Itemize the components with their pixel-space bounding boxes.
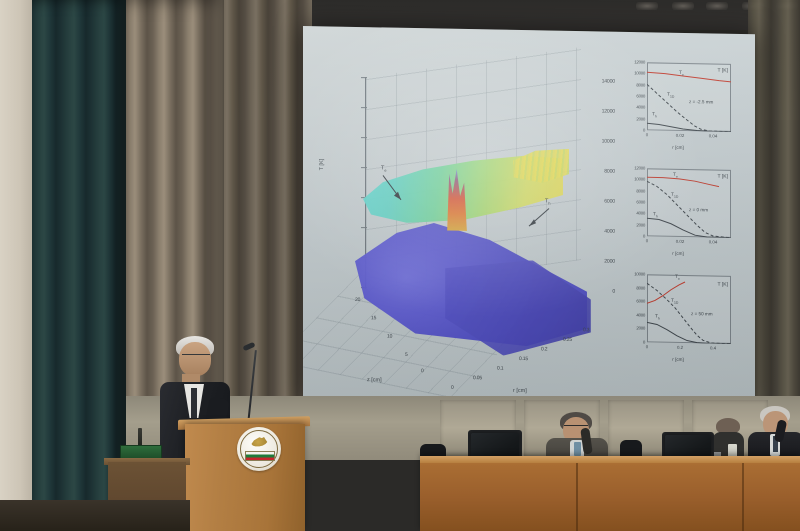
subplot-y-tick: 2000 [636,116,645,121]
z-tick-label: 8000 [573,168,615,175]
y-tick-label: 15 [371,315,376,321]
projection-screen: T [K] 14000 12000 10000 8000 6000 4000 2… [303,26,755,409]
subplot-curve-label-te: Te [679,71,684,77]
subplot-y-tick: 0 [643,340,645,345]
subplot-curve-label-th: Th [655,314,660,320]
annotation-th-sub: h [548,202,550,206]
subplot-curve-label-te: Te [675,275,680,281]
subplot-condition-label: z = -2.5 mm [689,99,713,104]
panel-table-seam [742,463,744,531]
subplot-x-tick: 0.02 [676,239,685,244]
podium-emblem [237,427,281,471]
z-tick-label: 12000 [573,108,615,115]
subplot-curve-label-th: Th [653,212,658,218]
subplot-y-tick: 0 [643,234,645,239]
subplot-x-tick: 0.4 [710,345,716,350]
x-tick-label: 0.25 [563,337,572,343]
subplot-x-tick: 0 [646,238,648,243]
annotation-te-sub: e [384,169,386,173]
subplot-y-tick: 10000 [634,71,645,76]
main-plot-yaxis-title: z [cm] [367,377,382,383]
z-tick-label: 2000 [573,258,615,265]
subplot-y-tick: 12000 [634,59,645,64]
subplot-y-tick: 6000 [636,94,645,99]
subplot-y-tick: 10000 [634,177,645,182]
main-plot-xaxis-title: r [cm] [513,388,527,394]
subplot-y-tick: 2000 [636,222,645,227]
subplot-y-tick: 0 [643,128,645,133]
x-tick-label: 0 [451,385,454,391]
nameplate [120,445,162,459]
z-tick-label: 10000 [573,138,615,145]
subplot-y-tick: 8000 [636,285,645,290]
subplot-curve-label-t1d: T1D [671,299,678,305]
subplot-y-tick: 4000 [636,312,645,317]
conference-room-photo: T [K] 14000 12000 10000 8000 6000 4000 2… [0,0,800,531]
subplot-x-tick: 0.2 [677,345,683,350]
subplot-y-tick: 2000 [636,326,645,331]
subplot-y-tick: 4000 [636,105,645,110]
subplot-x-axis-title: r [cm] [672,357,683,362]
ceiling-light-icon [706,2,728,10]
subplot-x-tick: 0.02 [676,133,685,138]
arrow-te-icon [379,173,409,206]
subplot-z-0mm: 12000 10000 8000 6000 4000 2000 0 Te [619,160,737,258]
y-tick-label: 5 [405,352,408,358]
y-tick-label: 10 [387,334,392,340]
subplot-curve-label-t1d: T1D [667,93,674,99]
subplot-unit-label: T [K] [718,282,728,288]
main-3d-surface-plot: T [K] 14000 12000 10000 8000 6000 4000 2… [317,60,617,385]
flag-tricolor-icon [245,451,275,461]
annotation-th: Th [545,198,551,205]
arrow-th-icon [525,206,553,235]
side-wall [0,0,34,531]
subplot-x-axis-title: r [cm] [672,145,683,150]
necktie [191,388,197,418]
subplot-y-tick: 4000 [636,211,645,216]
curtain-teal [32,0,126,531]
x-tick-label: 0.2 [541,346,547,352]
subplot-z-minus-2p5mm: 12000 10000 8000 6000 4000 2000 0 Te [619,54,737,152]
panel-table-seam [576,463,578,531]
subplot-curve-label-te: Te [673,173,678,179]
main-plot-zaxis-title: T [K] [319,159,325,171]
y-tick-label: 20 [355,297,360,303]
subplot-y-tick: 6000 [636,299,645,304]
panel-table-edge [420,456,800,463]
bottle-on-side-table[interactable] [138,428,142,446]
curtain-right [748,0,800,420]
subplot-y-tick: 8000 [636,82,645,87]
subplot-unit-label: T [K] [718,68,728,74]
x-tick-label: 0.3 [583,327,589,333]
ceiling-light-icon [672,2,694,10]
x-tick-label: 0.1 [497,366,503,372]
z-tick-label: 6000 [573,198,615,205]
subplot-y-tick: 12000 [634,165,645,170]
y-tick-label: 0 [421,368,424,374]
x-tick-label: 0.05 [473,375,482,381]
subplot-x-tick: 0.04 [709,239,718,244]
subplot-y-tick: 10000 [634,271,645,276]
subplot-z-50mm: 10000 8000 6000 4000 2000 0 Te T1D [619,266,737,364]
glasses-icon [182,354,210,360]
subplot-x-tick: 0 [646,344,648,349]
subplot-condition-label: z = 0 mm [689,207,708,212]
subplot-curve-label-t1d: T1D [671,193,678,199]
subplot-unit-label: T [K] [718,174,728,180]
ceiling-light-icon [636,2,658,10]
x-tick-label: 0.15 [519,356,528,362]
subplot-condition-label: z = 50 mm [691,311,713,316]
subplot-x-axis-title: r [cm] [672,251,683,256]
subplot-y-tick: 8000 [636,188,645,193]
stage-floor [0,500,190,531]
subplot-x-tick: 0.04 [709,133,718,138]
subplot-curve-label-th: Th [652,112,657,118]
z-tick-label: 14000 [573,78,615,85]
annotation-te: Te [381,165,387,172]
subplot-x-tick: 0 [646,132,648,137]
z-tick-label: 4000 [573,228,615,235]
subplot-y-tick: 6000 [636,200,645,205]
